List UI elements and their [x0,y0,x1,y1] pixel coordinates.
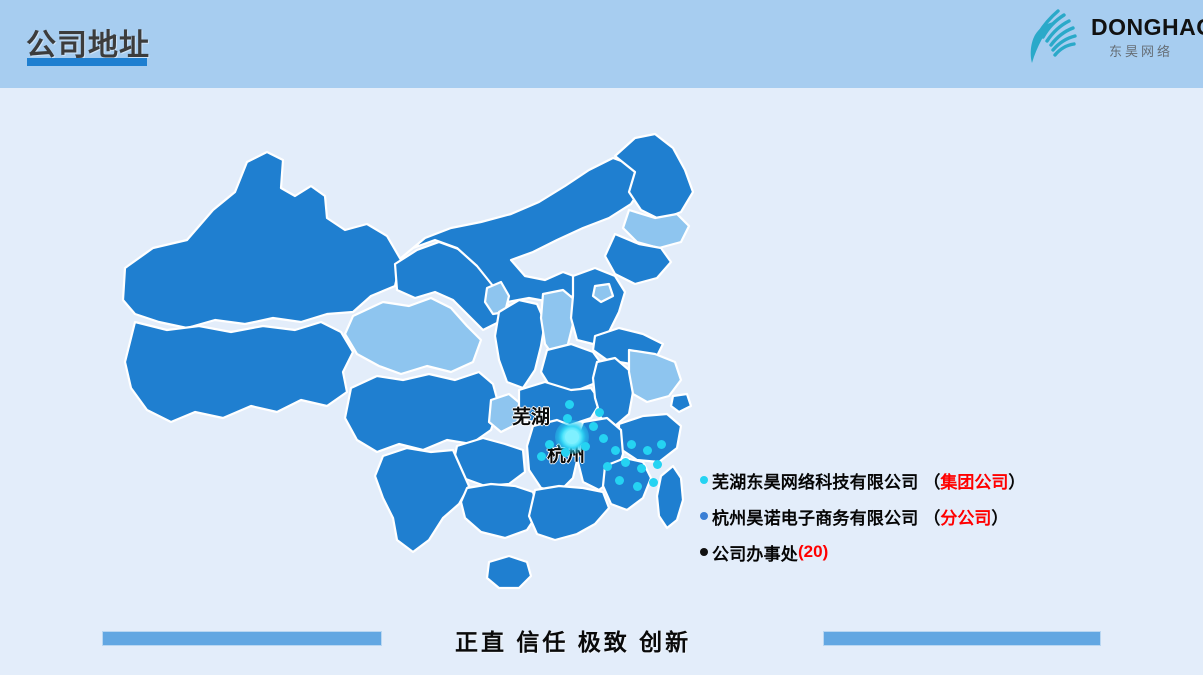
province-jiangsu [629,350,681,402]
office-dot[interactable] [565,400,574,409]
office-dot[interactable] [561,448,570,457]
office-dot[interactable] [537,452,546,461]
legend-paren-open: （ [923,468,940,493]
province-qinghai [345,298,481,374]
legend-label: 公司办事处 [712,540,798,565]
office-dot[interactable] [649,478,658,487]
china-map-graphic [95,100,715,610]
footer-bar-left [102,631,382,646]
legend-paren-text: 集团公司 [940,468,1008,493]
office-dot[interactable] [589,422,598,431]
office-dot[interactable] [599,434,608,443]
office-dot[interactable] [643,446,652,455]
legend-bullet-cyan [700,476,708,484]
office-dot[interactable] [637,464,646,473]
legend-paren-close: ） [991,504,1008,529]
legend-item-offices: 公司办事处 ( 20 ) [700,534,1170,570]
province-xinjiang [123,152,401,328]
map-label-wuhu: 芜湖 [512,402,550,429]
province-taiwan [657,466,683,528]
province-shaanxi [495,300,545,388]
china-map-container: 芜湖 杭州 [95,100,715,610]
office-dot[interactable] [603,462,612,471]
page-header: 公司地址 DONGHAO 东昊网络 [0,0,1203,88]
office-dot[interactable] [633,482,642,491]
legend-bullet-black [700,548,708,556]
logo-subtitle: 东昊网络 [1091,45,1191,58]
legend: 芜湖东昊网络科技有限公司 （ 集团公司 ） 杭州昊诺电子商务有限公司 （ 分公司… [700,462,1170,570]
legend-item-group-company: 芜湖东昊网络科技有限公司 （ 集团公司 ） [700,462,1170,498]
legend-bullet-blue [700,512,708,520]
office-dot[interactable] [621,458,630,467]
office-dot[interactable] [611,446,620,455]
province-zhejiang [619,414,681,462]
legend-label: 芜湖东昊网络科技有限公司 [712,468,918,493]
donghao-wing-mark-icon [1021,6,1093,68]
legend-item-branch-company: 杭州昊诺电子商务有限公司 （ 分公司 ） [700,498,1170,534]
province-guangdong [529,486,609,540]
office-dot[interactable] [615,476,624,485]
office-dot[interactable] [581,442,590,451]
province-yunnan [375,448,469,552]
office-dot[interactable] [627,440,636,449]
province-hainan [487,556,531,588]
legend-paren-close: ） [1008,468,1025,493]
legend-label: 杭州昊诺电子商务有限公司 [712,504,918,529]
province-shanghai [671,394,691,412]
company-logo: DONGHAO 东昊网络 [1021,4,1191,76]
office-dot[interactable] [563,414,572,423]
office-dot[interactable] [545,440,554,449]
legend-paren-text: 分公司 [940,504,991,529]
office-dot[interactable] [653,460,662,469]
legend-paren-text: 20 [804,542,823,562]
province-tibet [125,322,353,422]
logo-text-block: DONGHAO 东昊网络 [1091,16,1191,58]
office-dot[interactable] [595,408,604,417]
footer-slogan: 正直 信任 极致 创新 [455,623,691,657]
province-guangxi [461,484,539,538]
logo-name: DONGHAO [1091,16,1191,39]
office-dot[interactable] [657,440,666,449]
legend-paren-close: ) [823,542,829,562]
footer-bar-right [823,631,1101,646]
title-underline-accent [27,58,147,66]
legend-paren-open: （ [923,504,940,529]
